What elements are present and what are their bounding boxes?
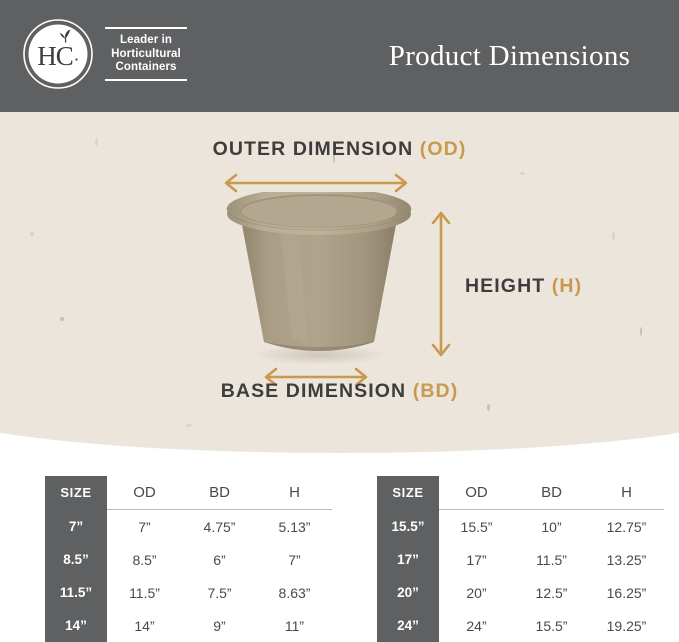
outer-dimension-text: OUTER DIMENSION — [213, 138, 420, 160]
cell-bd: 4.75” — [182, 510, 257, 544]
cell-size: 14” — [45, 609, 107, 642]
table-row: 11.5” 11.5” 7.5” 8.63” — [45, 576, 332, 609]
height-label: HEIGHT (H) — [465, 275, 582, 298]
brand-lockup: HC Leader in Horticultural Containers — [22, 18, 187, 90]
cell-h: 13.25” — [589, 543, 664, 576]
hc-logo-icon: HC — [22, 18, 94, 90]
cell-h: 8.63” — [257, 576, 332, 609]
table-row: 8.5” 8.5” 6” 7” — [45, 543, 332, 576]
cell-size: 11.5” — [45, 576, 107, 609]
col-header-bd: BD — [514, 476, 589, 510]
size-tables: SIZE OD BD H 7” 7” 4.75” 5.13” 8.5” 8.5”… — [0, 476, 679, 636]
cell-bd: 10” — [514, 510, 589, 544]
cell-od: 14” — [107, 609, 182, 642]
col-header-h: H — [589, 476, 664, 510]
cell-h: 7” — [257, 543, 332, 576]
col-header-size: SIZE — [377, 476, 439, 510]
table-row: 17” 17” 11.5” 13.25” — [377, 543, 664, 576]
height-arrow — [430, 210, 452, 358]
page-header: HC Leader in Horticultural Containers Pr… — [0, 0, 679, 112]
cell-od: 15.5” — [439, 510, 514, 544]
table-row: 7” 7” 4.75” 5.13” — [45, 510, 332, 544]
cell-bd: 6” — [182, 543, 257, 576]
cell-h: 16.25” — [589, 576, 664, 609]
outer-dimension-label: OUTER DIMENSION (OD) — [0, 138, 679, 161]
cell-od: 11.5” — [107, 576, 182, 609]
cell-h: 12.75” — [589, 510, 664, 544]
cell-size: 8.5” — [45, 543, 107, 576]
brand-line-1: Leader in — [105, 34, 187, 48]
size-table-right: SIZE OD BD H 15.5” 15.5” 10” 12.75” 17” … — [377, 476, 664, 642]
size-table-left: SIZE OD BD H 7” 7” 4.75” 5.13” 8.5” 8.5”… — [45, 476, 332, 642]
cell-bd: 11.5” — [514, 543, 589, 576]
height-text: HEIGHT — [465, 275, 552, 297]
col-header-od: OD — [439, 476, 514, 510]
brand-rule-bottom — [105, 79, 187, 81]
cell-od: 20” — [439, 576, 514, 609]
cell-od: 17” — [439, 543, 514, 576]
col-header-size: SIZE — [45, 476, 107, 510]
dimensions-diagram: OUTER DIMENSION (OD) — [0, 112, 679, 457]
page-title: Product Dimensions — [340, 0, 679, 112]
cell-od: 8.5” — [107, 543, 182, 576]
svg-text:HC: HC — [37, 41, 73, 71]
col-header-od: OD — [107, 476, 182, 510]
cell-h: 5.13” — [257, 510, 332, 544]
cell-size: 17” — [377, 543, 439, 576]
table-header-row: SIZE OD BD H — [377, 476, 664, 510]
cell-h: 11” — [257, 609, 332, 642]
cell-bd: 15.5” — [514, 609, 589, 642]
cell-h: 19.25” — [589, 609, 664, 642]
table-header-row: SIZE OD BD H — [45, 476, 332, 510]
col-header-bd: BD — [182, 476, 257, 510]
base-dimension-label: BASE DIMENSION (BD) — [0, 380, 679, 403]
brand-tagline: Leader in Horticultural Containers — [105, 22, 187, 86]
table-row: 15.5” 15.5” 10” 12.75” — [377, 510, 664, 544]
cell-bd: 9” — [182, 609, 257, 642]
table-row: 14” 14” 9” 11” — [45, 609, 332, 642]
table-row: 24” 24” 15.5” 19.25” — [377, 609, 664, 642]
base-dimension-text: BASE DIMENSION — [221, 380, 413, 402]
cell-od: 7” — [107, 510, 182, 544]
cell-size: 7” — [45, 510, 107, 544]
base-dimension-code: (BD) — [413, 380, 459, 402]
brand-line-3: Containers — [105, 61, 187, 75]
brand-line-2: Horticultural — [105, 48, 187, 62]
planter-pot-illustration — [222, 192, 417, 367]
cell-size: 24” — [377, 609, 439, 642]
col-header-h: H — [257, 476, 332, 510]
table-row: 20” 20” 12.5” 16.25” — [377, 576, 664, 609]
cell-size: 15.5” — [377, 510, 439, 544]
cell-bd: 12.5” — [514, 576, 589, 609]
cell-bd: 7.5” — [182, 576, 257, 609]
cell-od: 24” — [439, 609, 514, 642]
outer-dimension-code: (OD) — [420, 138, 467, 160]
height-code: (H) — [552, 275, 582, 297]
outer-dimension-arrow — [222, 172, 410, 194]
cell-size: 20” — [377, 576, 439, 609]
